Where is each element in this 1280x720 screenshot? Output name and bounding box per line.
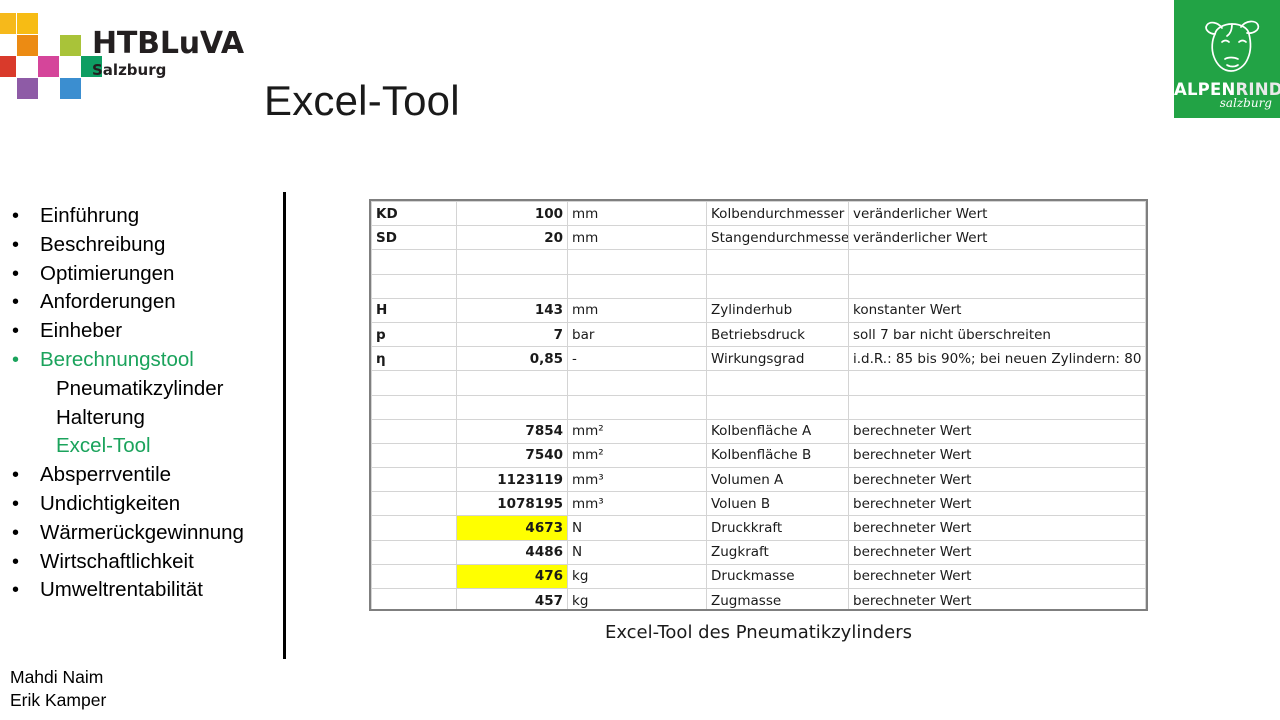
cell-unit[interactable]: mm² [568,419,707,443]
cell-value[interactable]: 20 [457,226,568,250]
logo-square-7 [17,78,38,99]
logo-square-0 [0,13,16,34]
cell-desc[interactable] [707,395,849,419]
cell-symbol[interactable] [372,492,457,516]
bullet-icon: • [12,317,19,346]
cell-symbol[interactable]: η [372,347,457,371]
cell-value[interactable] [457,250,568,274]
cell-note[interactable]: berechneter Wert [849,516,1146,540]
excel-table: KD100mmKolbendurchmesserveränderlicher W… [371,201,1146,611]
agenda-item-optimierungen[interactable]: •Optimierungen [8,260,293,289]
cell-desc[interactable]: Kolbenfläche B [707,443,849,467]
cell-symbol[interactable]: p [372,322,457,346]
agenda-item-einfuhrung[interactable]: •Einführung [8,202,293,231]
cell-note[interactable]: i.d.R.: 85 bis 90%; bei neuen Zylindern:… [849,347,1146,371]
bullet-icon: • [12,490,19,519]
table-row [372,395,1146,419]
cell-value[interactable]: 7 [457,322,568,346]
cell-symbol[interactable] [372,371,457,395]
bullet-icon: • [12,346,19,375]
table-row: 4486NZugkraftberechneter Wert [372,540,1146,564]
table-row: 476kgDruckmasseberechneter Wert [372,564,1146,588]
table-row: 457kgZugmasseberechneter Wert [372,589,1146,612]
agenda-item-label: Umweltrentabilität [8,576,203,605]
cell-symbol[interactable]: SD [372,226,457,250]
cell-unit[interactable]: mm³ [568,492,707,516]
cell-value[interactable]: 143 [457,298,568,322]
logo-square-1 [17,13,38,34]
agenda-item-label: Wirtschaftlichkeit [8,548,194,577]
alpenrind-subtitle: salzburg [1174,96,1272,110]
logo-square-2 [17,35,38,56]
excel-table-body: KD100mmKolbendurchmesserveränderlicher W… [372,202,1146,612]
cell-desc[interactable]: Kolbenfläche A [707,419,849,443]
cell-value[interactable]: 4486 [457,540,568,564]
agenda-item-label: Beschreibung [8,231,165,260]
cell-value[interactable]: 0,85 [457,347,568,371]
agenda-item-einheber[interactable]: •Einheber [8,317,293,346]
cell-note[interactable] [849,274,1146,298]
agenda-item-label: Einführung [8,202,139,231]
figure-caption: Excel-Tool des Pneumatikzylinders [369,622,1148,643]
alpenrind-logo: ALPENRIND salzburg [1174,0,1280,118]
agenda-item-absperrventile[interactable]: •Absperrventile [8,461,293,490]
cell-note[interactable]: berechneter Wert [849,540,1146,564]
agenda-item-warmeruckgewinnung[interactable]: •Wärmerückgewinnung [8,519,293,548]
bullet-icon: • [12,576,19,605]
author-names: Mahdi NaimErik Kamper [10,666,106,712]
table-row: 7854mm²Kolbenfläche Aberechneter Wert [372,419,1146,443]
cell-desc[interactable]: Voluen B [707,492,849,516]
table-row: η0,85-Wirkungsgradi.d.R.: 85 bis 90%; be… [372,347,1146,371]
agenda-item-halterung[interactable]: Halterung [8,404,293,433]
cell-note[interactable]: berechneter Wert [849,564,1146,588]
agenda-item-berechnungstool[interactable]: •Berechnungstool [8,346,293,375]
cell-symbol[interactable] [372,250,457,274]
cell-unit[interactable]: N [568,540,707,564]
cell-value[interactable] [457,371,568,395]
cell-note[interactable]: berechneter Wert [849,443,1146,467]
logo-square-3 [60,35,81,56]
cell-note[interactable]: berechneter Wert [849,492,1146,516]
agenda-item-excel-tool[interactable]: Excel-Tool [8,432,293,461]
logo-square-8 [60,78,81,99]
cell-desc[interactable]: Zylinderhub [707,298,849,322]
agenda-item-label: Undichtigkeiten [8,490,180,519]
cell-symbol[interactable] [372,274,457,298]
cell-value[interactable] [457,395,568,419]
table-row: H143mmZylinderhubkonstanter Wert [372,298,1146,322]
bullet-icon: • [12,548,19,577]
logo-square-4 [0,56,16,77]
cell-desc[interactable]: Druckmasse [707,564,849,588]
cell-unit[interactable]: bar [568,322,707,346]
cell-unit[interactable] [568,371,707,395]
bullet-icon: • [12,461,19,490]
cell-note[interactable] [849,371,1146,395]
table-row: p7barBetriebsdrucksoll 7 bar nicht übers… [372,322,1146,346]
agenda-item-umweltrentabilitat[interactable]: •Umweltrentabilität [8,576,293,605]
cell-symbol[interactable] [372,589,457,612]
vertical-divider [283,192,286,659]
table-row [372,371,1146,395]
agenda-item-label: Halterung [8,404,145,433]
table-row: 1078195mm³Voluen Bberechneter Wert [372,492,1146,516]
cell-desc[interactable] [707,371,849,395]
agenda-item-label: Optimierungen [8,260,174,289]
cell-note[interactable]: berechneter Wert [849,419,1146,443]
logo-school-city: Salzburg [92,61,242,79]
agenda-item-wirtschaftlichkeit[interactable]: •Wirtschaftlichkeit [8,548,293,577]
table-row [372,274,1146,298]
logo-square-5 [38,56,59,77]
cell-value[interactable]: 476 [457,564,568,588]
cell-symbol[interactable] [372,443,457,467]
cell-unit[interactable]: kg [568,564,707,588]
table-row: SD20mmStangendurchmesserveränderlicher W… [372,226,1146,250]
table-row [372,250,1146,274]
agenda-item-label: Einheber [8,317,122,346]
cell-symbol[interactable] [372,540,457,564]
cell-note[interactable]: berechneter Wert [849,468,1146,492]
agenda-item-label: Excel-Tool [8,432,151,461]
author-name-1: Mahdi Naim [10,666,106,689]
cell-unit[interactable]: mm [568,226,707,250]
bullet-icon: • [12,202,19,231]
agenda-item-beschreibung[interactable]: •Beschreibung [8,231,293,260]
cell-unit[interactable]: - [568,347,707,371]
cell-value[interactable]: 7540 [457,443,568,467]
cell-desc[interactable] [707,274,849,298]
agenda-list: •Einführung•Beschreibung•Optimierungen•A… [8,202,293,605]
cell-value[interactable]: 457 [457,589,568,612]
cell-unit[interactable] [568,274,707,298]
cell-value[interactable]: 100 [457,202,568,226]
agenda-item-label: Anforderungen [8,288,176,317]
cell-unit[interactable] [568,250,707,274]
cell-desc[interactable]: Wirkungsgrad [707,347,849,371]
author-name-2: Erik Kamper [10,689,106,712]
table-row: 7540mm²Kolbenfläche Bberechneter Wert [372,443,1146,467]
logo-school-name: HTBLuVA [92,28,242,60]
table-row: KD100mmKolbendurchmesserveränderlicher W… [372,202,1146,226]
cell-symbol[interactable] [372,564,457,588]
agenda-item-undichtigkeiten[interactable]: •Undichtigkeiten [8,490,293,519]
cell-desc[interactable]: Druckkraft [707,516,849,540]
cell-unit[interactable]: mm² [568,443,707,467]
cell-desc[interactable]: Betriebsdruck [707,322,849,346]
bullet-icon: • [12,231,19,260]
cell-desc[interactable] [707,250,849,274]
cell-value[interactable]: 1078195 [457,492,568,516]
school-logo: HTBLuVA Salzburg [6,24,246,104]
cell-note[interactable]: veränderlicher Wert [849,202,1146,226]
cell-note[interactable]: soll 7 bar nicht überschreiten [849,322,1146,346]
cell-value[interactable]: 1123119 [457,468,568,492]
cell-unit[interactable] [568,395,707,419]
cell-unit[interactable]: mm [568,298,707,322]
table-row: 4673NDruckkraftberechneter Wert [372,516,1146,540]
cell-note[interactable]: konstanter Wert [849,298,1146,322]
cell-value[interactable]: 4673 [457,516,568,540]
table-row: 1123119mm³Volumen Aberechneter Wert [372,468,1146,492]
excel-table-screenshot: KD100mmKolbendurchmesserveränderlicher W… [369,199,1148,611]
cell-desc[interactable]: Kolbendurchmesser [707,202,849,226]
cell-symbol[interactable]: KD [372,202,457,226]
cell-unit[interactable]: kg [568,589,707,612]
agenda-item-label: Berechnungstool [8,346,194,375]
cell-note[interactable] [849,250,1146,274]
bullet-icon: • [12,519,19,548]
cell-value[interactable]: 7854 [457,419,568,443]
cell-unit[interactable]: N [568,516,707,540]
cell-unit[interactable]: mm [568,202,707,226]
cell-note[interactable]: berechneter Wert [849,589,1146,612]
agenda-item-label: Absperrventile [8,461,171,490]
cell-desc[interactable]: Volumen A [707,468,849,492]
logo-square-grid [6,24,92,100]
agenda-item-anforderungen[interactable]: •Anforderungen [8,288,293,317]
agenda-item-pneumatikzylinder[interactable]: Pneumatikzylinder [8,375,293,404]
cell-note[interactable]: veränderlicher Wert [849,226,1146,250]
agenda-item-label: Wärmerückgewinnung [8,519,244,548]
cell-desc[interactable]: Stangendurchmesser [707,226,849,250]
cell-symbol[interactable]: H [372,298,457,322]
cell-note[interactable] [849,395,1146,419]
cell-symbol[interactable] [372,419,457,443]
cell-desc[interactable]: Zugmasse [707,589,849,612]
cell-symbol[interactable] [372,468,457,492]
cell-value[interactable] [457,274,568,298]
agenda-item-label: Pneumatikzylinder [8,375,224,404]
cell-symbol[interactable] [372,395,457,419]
bullet-icon: • [12,288,19,317]
bullet-icon: • [12,260,19,289]
cow-head-icon [1196,18,1268,76]
cell-desc[interactable]: Zugkraft [707,540,849,564]
cell-symbol[interactable] [372,516,457,540]
page-title: Excel-Tool [264,76,460,126]
logo-wordmark: HTBLuVA Salzburg [92,28,242,79]
cell-unit[interactable]: mm³ [568,468,707,492]
